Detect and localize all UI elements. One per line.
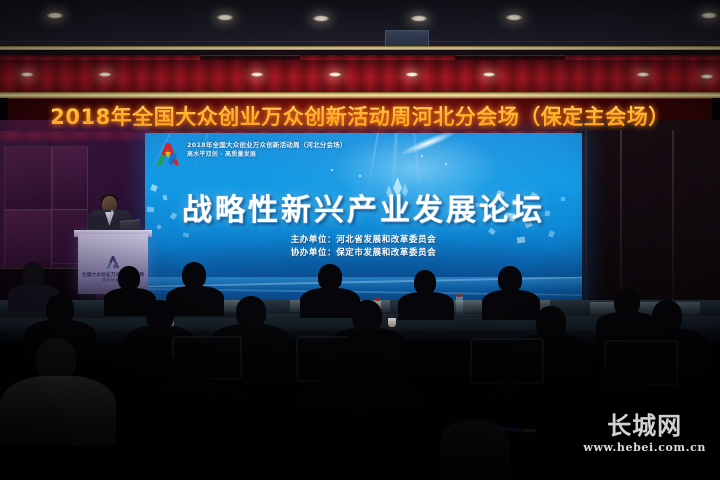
wall-downlight [636, 72, 650, 77]
conference-photo: 2018年全国大众创业万众创新活动周河北分会场（保定主会场） [0, 0, 720, 480]
event-logo-text: 2018年全国大众创业万众创新活动周（河北分会场） 高水平双创 · 高质量发展 [187, 141, 377, 159]
event-logo-line2: 高水平双创 · 高质量发展 [187, 150, 377, 159]
audience-shoulders [482, 290, 540, 320]
bottle-cap [457, 294, 462, 297]
door-seam [672, 130, 674, 325]
wall-right-dark [575, 120, 720, 330]
audience-shoulders [300, 288, 360, 318]
wall-downlight [250, 72, 264, 77]
watermark-site-name: 长城网 [583, 413, 706, 439]
door-seam [585, 130, 587, 325]
audience-shoulders [166, 286, 224, 316]
podium-area: 全国大众创业万众创新活动周 河北分会场 [58, 180, 168, 295]
wall-downlight [98, 72, 112, 77]
water-bottle [456, 296, 463, 315]
watermark: 长城网 www.hebei.com.cn [583, 413, 706, 454]
host-line-co: 协办单位：保定市发展和改革委员会 [145, 247, 582, 260]
wall-downlight [482, 72, 496, 77]
ceiling-downlight [700, 12, 718, 19]
ceiling [0, 0, 720, 46]
watermark-url: www.hebei.com.cn [583, 441, 706, 454]
ceiling-downlight [505, 14, 523, 21]
event-logo [153, 140, 183, 168]
audience-shoulders [298, 376, 422, 450]
ceiling-seam [0, 41, 720, 42]
paper-cup [388, 318, 396, 327]
forum-title: 战略性新兴产业发展论坛 [145, 185, 582, 229]
audience-shoulders-light [0, 376, 116, 446]
wall-downlight [20, 72, 34, 77]
wall-downlight [700, 74, 714, 79]
podium-logo [104, 254, 122, 270]
audience-head [182, 262, 206, 288]
sparkle [445, 163, 447, 165]
audience-shoulders [136, 382, 254, 452]
host-line-main: 主办单位：河北省发展和改革委员会 [145, 234, 582, 247]
ceiling-downlight [410, 15, 428, 22]
audience-head [118, 266, 140, 290]
ceiling-downlight [216, 14, 234, 21]
wall-downlight [405, 72, 419, 77]
audience-head [414, 270, 436, 294]
ceiling-downlight [312, 15, 330, 22]
bottle-cap [375, 298, 380, 301]
sparkle [331, 169, 333, 171]
audience-head [318, 264, 342, 290]
event-logo-line1: 2018年全国大众创业万众创新活动周（河北分会场） [187, 141, 377, 150]
audience-head [336, 334, 380, 382]
ceiling-downlight [46, 12, 64, 19]
sparkle [421, 155, 423, 157]
audience-head [22, 262, 44, 286]
sparkle [359, 175, 361, 177]
wall-downlight [328, 72, 342, 77]
led-banner-text: 2018年全国大众创业万众创新活动周河北分会场（保定主会场） [50, 101, 669, 131]
audience-head [498, 266, 522, 292]
audience-head [602, 356, 646, 404]
wall-panel-left [4, 146, 52, 210]
audience-shoulders [398, 292, 454, 320]
chair-back [470, 338, 544, 384]
host-organizations: 主办单位：河北省发展和改革委员会 协办单位：保定市发展和改革委员会 [145, 234, 582, 260]
led-banner: 2018年全国大众创业万众创新活动周河北分会场（保定主会场） [8, 98, 712, 133]
